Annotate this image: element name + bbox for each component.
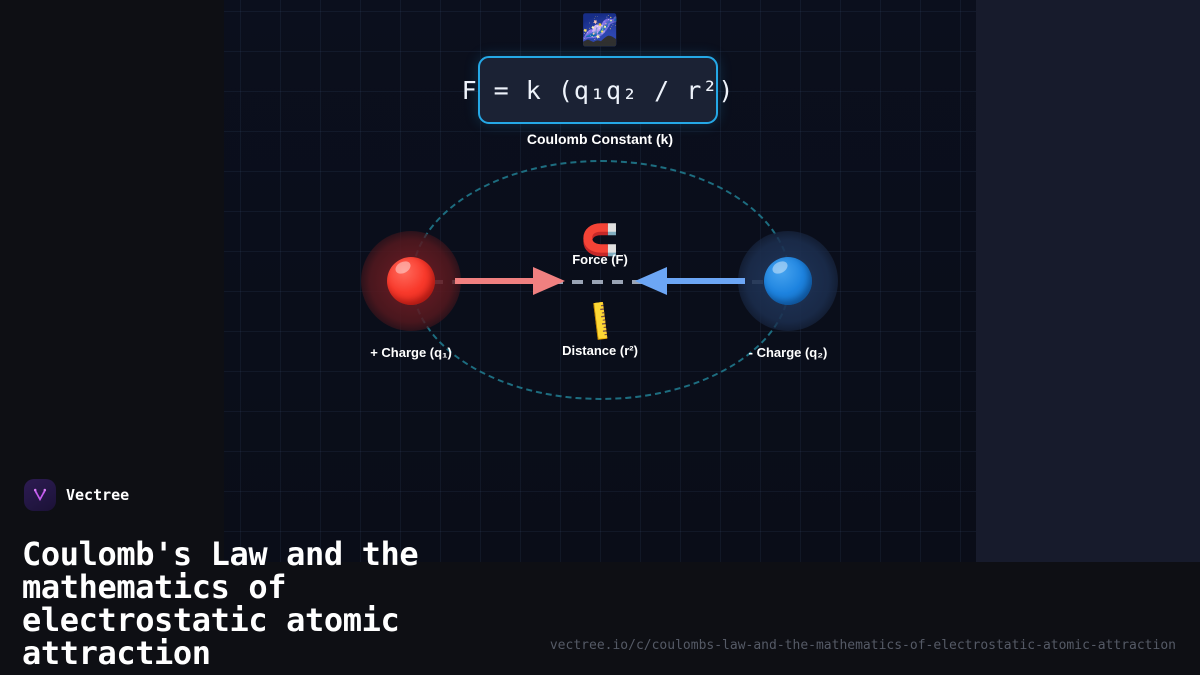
positive-charge-ball xyxy=(387,257,435,305)
distance-label: Distance (r²) xyxy=(520,343,680,358)
arrow-head xyxy=(533,267,565,295)
milky-way-icon: 🌌 xyxy=(224,16,976,46)
negative-charge-ball xyxy=(764,257,812,305)
screenshot-root: 🌌 F = k (q₁q₂ / r²) Coulomb Constant (k)… xyxy=(0,0,1200,675)
formula-caption: Coulomb Constant (k) xyxy=(224,131,976,147)
force-label: Force (F) xyxy=(520,252,680,267)
negative-charge-label: - Charge (q₂) xyxy=(698,345,878,360)
arrow-head xyxy=(635,267,667,295)
positive-charge-label: + Charge (q₁) xyxy=(321,345,501,360)
force-annotation: 🧲 Force (F) xyxy=(520,226,680,267)
arrow-shaft xyxy=(455,278,537,284)
vectree-v-tree-icon xyxy=(24,479,56,511)
distance-annotation: 📏 Distance (r²) xyxy=(520,307,680,358)
diagram-stage: 🌌 F = k (q₁q₂ / r²) Coulomb Constant (k)… xyxy=(224,0,976,562)
force-arrow-right-icon xyxy=(455,267,565,295)
force-arrow-left-icon xyxy=(635,267,745,295)
arrow-shaft xyxy=(663,278,745,284)
brand-name: Vectree xyxy=(66,486,129,504)
brand: Vectree xyxy=(24,479,129,511)
footer-url: vectree.io/c/coulombs-law-and-the-mathem… xyxy=(550,638,1176,653)
page-title: Coulomb's Law and the mathematics of ele… xyxy=(22,538,542,670)
formula-text: F = k (q₁q₂ / r²) xyxy=(462,76,735,105)
formula-box: F = k (q₁q₂ / r²) xyxy=(478,56,718,124)
